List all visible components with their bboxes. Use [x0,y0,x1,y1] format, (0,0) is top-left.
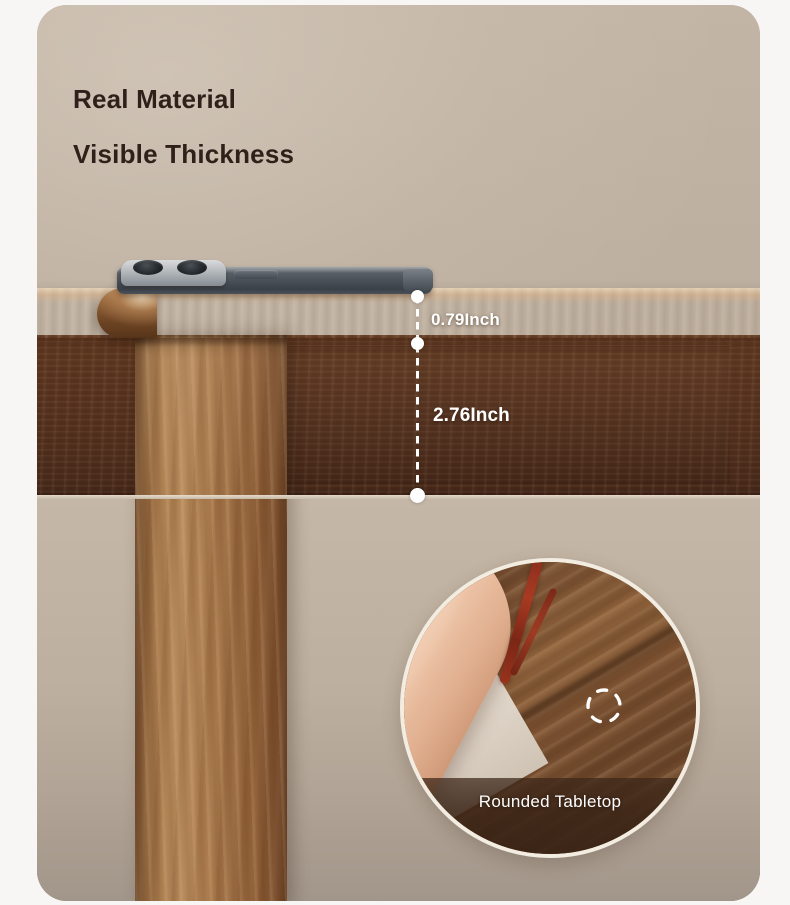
dimension-endpoint-dot [410,488,425,503]
dimension-label-apron-depth: 2.76Inch [433,405,510,427]
smartphone-right-end [403,269,433,291]
floor-horizon-line [37,495,760,499]
dashed-arc-marker-icon [582,684,626,728]
smartphone-side-button [234,270,278,279]
tabletop-bullnose-corner [97,288,157,338]
dimension-endpoint-dot [411,337,424,350]
inset-caption-text: Rounded Tabletop [479,792,622,812]
headline-line-2: Visible Thickness [73,140,294,169]
product-feature-card: 0.79Inch 2.76Inch Real Material Visible … [37,5,760,901]
leg-wood-grain [135,335,287,901]
dimension-endpoint-dot [411,290,424,303]
smartphone-camera-lens [177,260,207,275]
smartphone-camera-lens [133,260,163,275]
product-image-canvas: 0.79Inch 2.76Inch Real Material Visible … [0,0,790,905]
headline-line-1: Real Material [73,85,294,114]
dimension-label-tabletop-thickness: 0.79Inch [431,310,500,330]
inset-caption-band: Rounded Tabletop [404,778,696,854]
dimension-line-apron [416,345,419,495]
detail-inset-circle: Rounded Tabletop [400,558,700,858]
table-leg [135,335,287,901]
headline-block: Real Material Visible Thickness [73,85,294,168]
